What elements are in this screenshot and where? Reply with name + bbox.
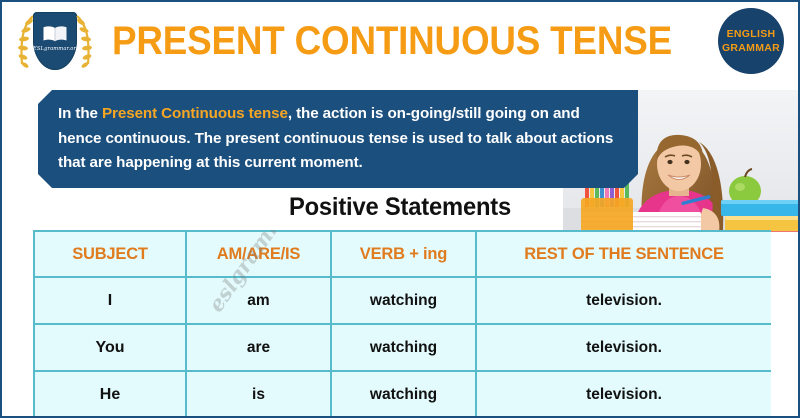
cell-aux: am xyxy=(186,277,331,324)
positive-statements-table: SUBJECT AM/ARE/IS VERB + ing REST OF THE… xyxy=(33,230,771,418)
column-header-aux: AM/ARE/IS xyxy=(186,231,331,277)
section-title: Positive Statements xyxy=(22,193,778,222)
cell-rest: television. xyxy=(476,371,771,418)
intro-highlight: Present Continuous tense xyxy=(102,105,288,122)
intro-lead: In the xyxy=(58,105,102,122)
cell-verb: watching xyxy=(331,277,476,324)
table-row: You are watching television. xyxy=(34,324,771,371)
badge-line-1: ENGLISH xyxy=(727,27,776,41)
site-logo: ESLgrammar.org xyxy=(16,10,94,76)
table-row: I am watching television. xyxy=(34,277,771,324)
column-header-subject: SUBJECT xyxy=(34,231,186,277)
column-header-rest: REST OF THE SENTENCE xyxy=(476,231,771,277)
shield-badge: ESLgrammar.org xyxy=(33,12,77,70)
table-row: He is watching television. xyxy=(34,371,771,418)
book-icon xyxy=(42,25,68,43)
english-grammar-badge: ENGLISH GRAMMAR xyxy=(718,8,784,74)
cell-aux: is xyxy=(186,371,331,418)
header: ESLgrammar.org PRESENT CONTINUOUS TENSE … xyxy=(2,2,798,82)
logo-text: ESLgrammar.org xyxy=(33,46,77,52)
laurel-right-icon xyxy=(74,14,94,72)
badge-line-2: GRAMMAR xyxy=(722,41,780,55)
cell-verb: watching xyxy=(331,324,476,371)
table-header-row: SUBJECT AM/ARE/IS VERB + ing REST OF THE… xyxy=(34,231,771,277)
intro-text: In the Present Continuous tense, the act… xyxy=(58,102,618,176)
cell-rest: television. xyxy=(476,277,771,324)
cell-aux: are xyxy=(186,324,331,371)
cell-subject: He xyxy=(34,371,186,418)
cell-verb: watching xyxy=(331,371,476,418)
intro-panel: In the Present Continuous tense, the act… xyxy=(38,90,638,188)
column-header-verb: VERB + ing xyxy=(331,231,476,277)
positive-statements-table-wrap: eslgrammar.org SUBJECT AM/ARE/IS VERB + … xyxy=(33,230,771,418)
infographic-page: ESLgrammar.org PRESENT CONTINUOUS TENSE … xyxy=(0,0,800,418)
page-title: PRESENT CONTINUOUS TENSE xyxy=(125,6,659,76)
cell-subject: You xyxy=(34,324,186,371)
cell-subject: I xyxy=(34,277,186,324)
cell-rest: television. xyxy=(476,324,771,371)
